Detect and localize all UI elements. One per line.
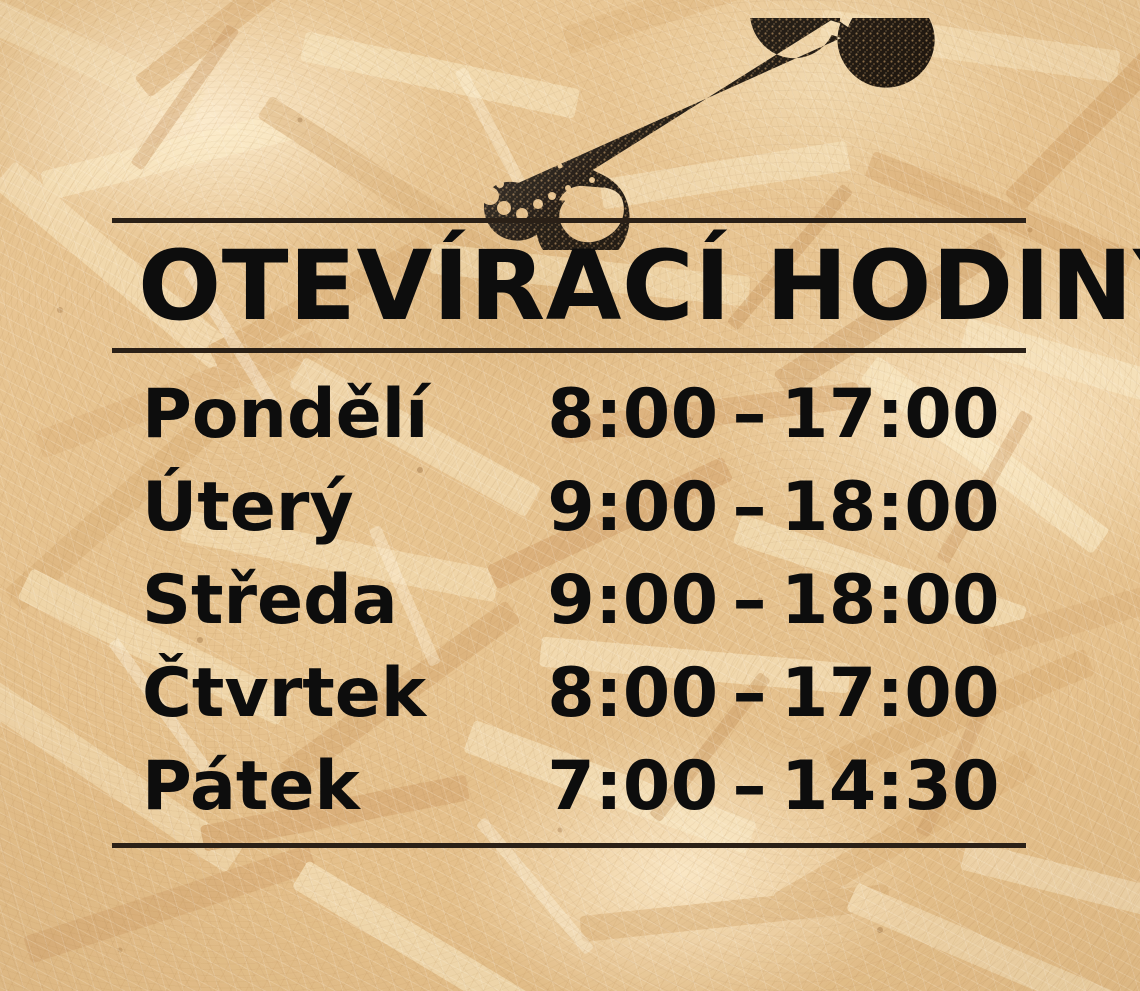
divider-top <box>112 218 1026 223</box>
hours-table: Pondělí 8:00–17:00 Úterý 9:00–18:00 Stře… <box>112 368 1026 833</box>
close-time: 14:30 <box>781 747 1000 826</box>
close-time: 17:00 <box>781 654 1000 733</box>
opening-hours-sign: OTEVÍRACÍ HODINY Pondělí 8:00–17:00 Úter… <box>0 0 1140 991</box>
wrench-icon <box>442 18 1002 250</box>
open-time: 9:00 <box>547 561 718 640</box>
hours-value: 9:00–18:00 <box>547 567 1000 635</box>
day-label: Čtvrtek <box>142 660 426 728</box>
open-time: 9:00 <box>547 468 718 547</box>
day-label: Pondělí <box>142 381 428 449</box>
table-row: Čtvrtek 8:00–17:00 <box>112 647 1026 740</box>
open-time: 8:00 <box>547 654 718 733</box>
table-row: Středa 9:00–18:00 <box>112 554 1026 647</box>
table-row: Úterý 9:00–18:00 <box>112 461 1026 554</box>
divider-middle <box>112 348 1026 353</box>
day-label: Pátek <box>142 753 360 821</box>
time-separator: – <box>719 561 782 640</box>
divider-bottom <box>112 843 1026 848</box>
hours-value: 8:00–17:00 <box>547 660 1000 728</box>
open-time: 8:00 <box>547 375 718 454</box>
sign-content: OTEVÍRACÍ HODINY Pondělí 8:00–17:00 Úter… <box>112 0 1026 991</box>
time-separator: – <box>719 468 782 547</box>
time-separator: – <box>719 375 782 454</box>
close-time: 18:00 <box>781 561 1000 640</box>
table-row: Pátek 7:00–14:30 <box>112 740 1026 833</box>
time-separator: – <box>719 654 782 733</box>
close-time: 17:00 <box>781 375 1000 454</box>
table-row: Pondělí 8:00–17:00 <box>112 368 1026 461</box>
hours-value: 8:00–17:00 <box>547 381 1000 449</box>
open-time: 7:00 <box>547 747 718 826</box>
day-label: Úterý <box>142 474 354 542</box>
day-label: Středa <box>142 567 398 635</box>
hours-value: 7:00–14:30 <box>547 753 1000 821</box>
time-separator: – <box>719 747 782 826</box>
close-time: 18:00 <box>781 468 1000 547</box>
hours-value: 9:00–18:00 <box>547 474 1000 542</box>
page-title: OTEVÍRACÍ HODINY <box>138 228 1044 344</box>
